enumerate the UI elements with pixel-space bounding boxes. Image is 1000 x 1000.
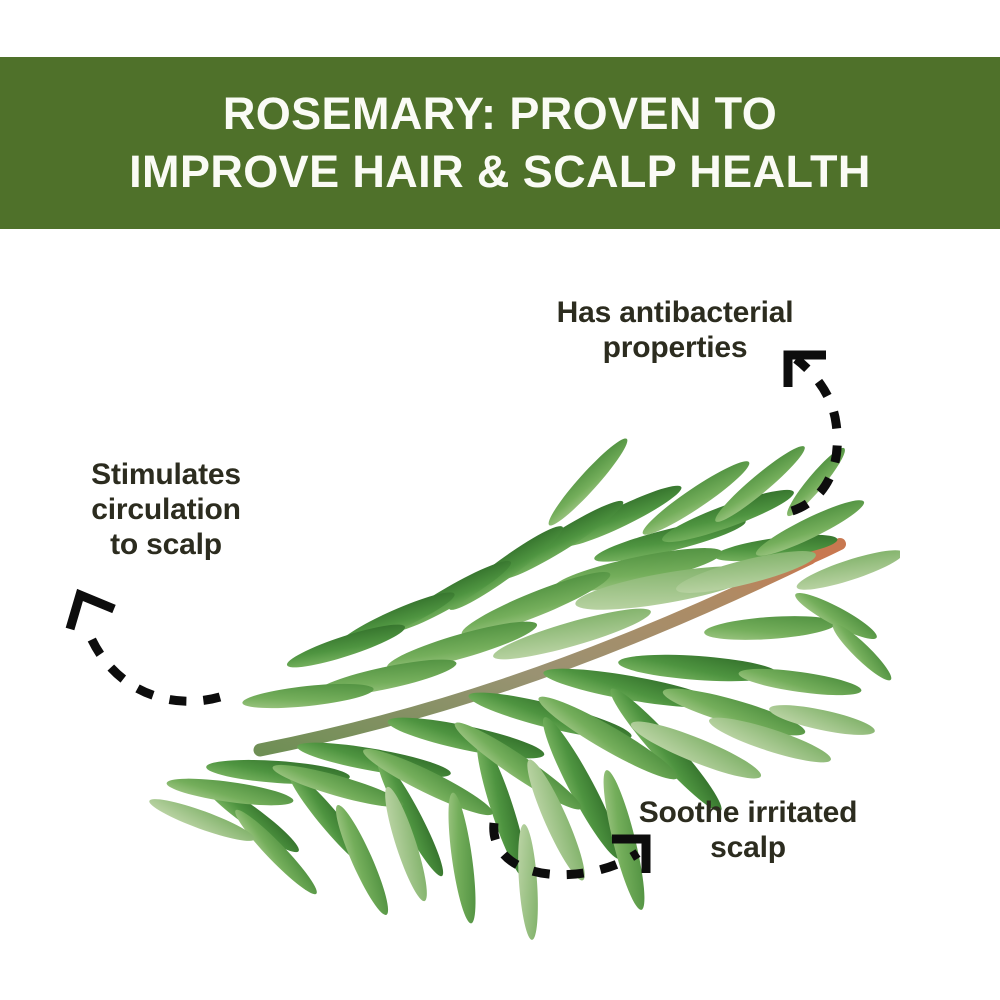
callout-label-circulation: Stimulates circulation to scalp [48,458,284,562]
header-banner: ROSEMARY: PROVEN TO IMPROVE HAIR & SCALP… [0,57,1000,229]
callout-label-soothe: Soothe irritated scalp [588,796,908,866]
page-title: ROSEMARY: PROVEN TO IMPROVE HAIR & SCALP… [105,85,895,200]
sprig-leaves-lower [146,612,877,940]
infographic-canvas: ROSEMARY: PROVEN TO IMPROVE HAIR & SCALP… [0,0,1000,1000]
callout-label-antibacterial: Has antibacterial properties [500,296,850,366]
